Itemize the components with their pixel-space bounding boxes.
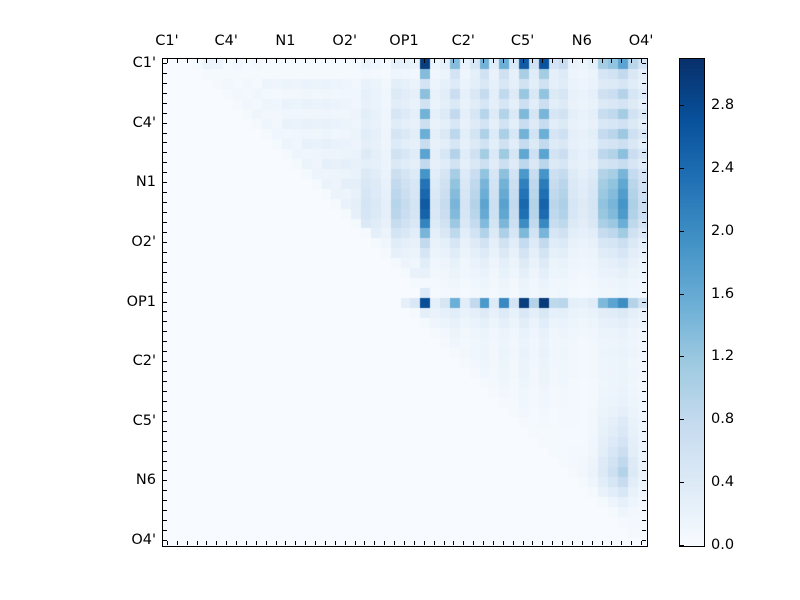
y-tick-left-3: [163, 93, 167, 94]
x-tick-bottom-27: [434, 541, 435, 545]
y-tick-right-30: [642, 361, 646, 362]
x-tick-top-10: [266, 59, 267, 63]
heatmap-axes: [162, 58, 648, 547]
y-tick-left-9: [163, 152, 167, 153]
y-tick-label-C2p: C2': [100, 354, 156, 369]
x-tick-bottom-43: [592, 541, 593, 545]
x-tick-bottom-4: [206, 541, 207, 545]
x-tick-bottom-2: [187, 541, 188, 545]
x-tick-top-35: [513, 59, 514, 63]
x-tick-top-26: [424, 59, 425, 63]
x-tick-bottom-42: [582, 541, 583, 545]
x-tick-bottom-23: [394, 541, 395, 545]
x-tick-top-3: [197, 59, 198, 63]
y-tick-label-O2p: O2': [100, 235, 156, 250]
x-tick-top-21: [374, 59, 375, 63]
x-tick-label-C2p: C2': [452, 34, 475, 49]
x-tick-top-11: [276, 59, 277, 63]
x-tick-label-C1p: C1': [155, 34, 178, 49]
y-tick-right-16: [642, 222, 646, 223]
colorbar-tick-label-2_8: 2.8: [711, 98, 734, 113]
y-tick-right-4: [642, 103, 646, 104]
x-tick-bottom-28: [444, 541, 445, 545]
y-tick-right-11: [642, 172, 646, 173]
colorbar-tick-label-1_6: 1.6: [711, 286, 734, 301]
y-tick-left-43: [163, 490, 167, 491]
y-tick-right-38: [642, 441, 646, 442]
x-tick-bottom-14: [305, 541, 306, 545]
x-tick-bottom-10: [266, 541, 267, 545]
x-tick-bottom-21: [374, 541, 375, 545]
y-tick-label-N1: N1: [100, 175, 156, 190]
y-tick-right-39: [642, 451, 646, 452]
x-tick-top-45: [611, 59, 612, 63]
y-tick-label-N6: N6: [100, 473, 156, 488]
colorbar-tick-0: [680, 545, 684, 546]
x-tick-top-5: [216, 59, 217, 63]
y-tick-left-21: [163, 272, 167, 273]
y-tick-right-13: [642, 192, 646, 193]
y-tick-right-0: [642, 63, 646, 64]
colorbar-tick-6: [680, 168, 684, 169]
y-tick-right-12: [642, 182, 646, 183]
x-tick-bottom-20: [364, 541, 365, 545]
y-tick-right-1: [642, 73, 646, 74]
x-tick-top-38: [542, 59, 543, 63]
y-tick-left-11: [163, 172, 167, 173]
x-tick-top-20: [364, 59, 365, 63]
y-tick-left-33: [163, 391, 167, 392]
y-tick-left-1: [163, 73, 167, 74]
y-tick-right-27: [642, 331, 646, 332]
x-tick-top-19: [355, 59, 356, 63]
y-tick-left-44: [163, 500, 167, 501]
colorbar-tick-label-2_4: 2.4: [711, 161, 734, 176]
x-tick-label-O4p: O4': [629, 34, 654, 49]
x-tick-bottom-17: [335, 541, 336, 545]
x-tick-bottom-48: [641, 541, 642, 545]
x-tick-bottom-16: [325, 541, 326, 545]
y-tick-left-42: [163, 480, 167, 481]
x-tick-top-30: [463, 59, 464, 63]
y-tick-right-3: [642, 93, 646, 94]
x-tick-top-0: [167, 59, 168, 63]
y-tick-left-15: [163, 212, 167, 213]
x-tick-top-14: [305, 59, 306, 63]
y-tick-right-10: [642, 162, 646, 163]
x-tick-bottom-24: [404, 541, 405, 545]
y-tick-right-45: [642, 510, 646, 511]
x-tick-bottom-19: [355, 541, 356, 545]
x-tick-bottom-18: [345, 541, 346, 545]
y-tick-left-7: [163, 133, 167, 134]
y-tick-right-31: [642, 371, 646, 372]
x-tick-top-46: [621, 59, 622, 63]
y-tick-right-43: [642, 490, 646, 491]
y-tick-right-20: [642, 262, 646, 263]
x-tick-bottom-46: [621, 541, 622, 545]
y-tick-left-2: [163, 83, 167, 84]
x-tick-top-1: [177, 59, 178, 63]
x-tick-label-OP1: OP1: [389, 34, 418, 49]
x-tick-top-47: [631, 59, 632, 63]
y-tick-label-OP1: OP1: [100, 294, 156, 309]
x-tick-top-28: [444, 59, 445, 63]
y-tick-right-15: [642, 212, 646, 213]
y-tick-left-37: [163, 431, 167, 432]
y-tick-label-C1p: C1': [100, 56, 156, 71]
x-tick-bottom-7: [236, 541, 237, 545]
x-tick-bottom-45: [611, 541, 612, 545]
x-tick-bottom-25: [414, 541, 415, 545]
y-tick-left-14: [163, 202, 167, 203]
x-tick-top-17: [335, 59, 336, 63]
x-tick-top-34: [503, 59, 504, 63]
x-tick-bottom-38: [542, 541, 543, 545]
y-tick-right-29: [642, 351, 646, 352]
colorbar-tick-1: [680, 482, 684, 483]
x-tick-bottom-5: [216, 541, 217, 545]
y-tick-left-27: [163, 331, 167, 332]
x-tick-top-44: [602, 59, 603, 63]
colorbar-tick-label-0_4: 0.4: [711, 475, 734, 490]
y-tick-right-25: [642, 311, 646, 312]
colorbar-axes: [679, 58, 705, 547]
y-tick-left-31: [163, 371, 167, 372]
x-tick-top-31: [473, 59, 474, 63]
y-tick-left-26: [163, 321, 167, 322]
y-tick-right-35: [642, 411, 646, 412]
x-tick-top-25: [414, 59, 415, 63]
colorbar-gradient: [680, 59, 704, 546]
x-tick-bottom-36: [523, 541, 524, 545]
y-tick-right-47: [642, 530, 646, 531]
y-tick-left-36: [163, 421, 167, 422]
y-tick-right-26: [642, 321, 646, 322]
x-tick-top-2: [187, 59, 188, 63]
x-tick-bottom-8: [246, 541, 247, 545]
colorbar-tick-5: [680, 231, 684, 232]
x-tick-top-29: [453, 59, 454, 63]
x-tick-top-40: [562, 59, 563, 63]
x-tick-bottom-32: [483, 541, 484, 545]
x-tick-bottom-40: [562, 541, 563, 545]
x-tick-bottom-44: [602, 541, 603, 545]
x-tick-bottom-22: [384, 541, 385, 545]
colorbar-tick-7: [680, 105, 684, 106]
x-tick-label-C4p: C4': [215, 34, 238, 49]
y-tick-left-41: [163, 470, 167, 471]
y-tick-right-46: [642, 520, 646, 521]
y-tick-left-17: [163, 232, 167, 233]
x-tick-bottom-41: [572, 541, 573, 545]
y-tick-left-32: [163, 381, 167, 382]
y-tick-left-40: [163, 461, 167, 462]
y-tick-label-C4p: C4': [100, 115, 156, 130]
x-tick-top-41: [572, 59, 573, 63]
y-tick-right-33: [642, 391, 646, 392]
y-tick-right-7: [642, 133, 646, 134]
x-tick-top-37: [532, 59, 533, 63]
x-tick-bottom-6: [226, 541, 227, 545]
x-tick-top-24: [404, 59, 405, 63]
y-tick-left-18: [163, 242, 167, 243]
y-tick-left-8: [163, 142, 167, 143]
figure-canvas: C1'C4'N1O2'OP1C2'C5'N6O4' C1'C4'N1O2'OP1…: [0, 0, 800, 600]
heatmap-image: [163, 59, 647, 546]
x-tick-top-22: [384, 59, 385, 63]
x-tick-bottom-47: [631, 541, 632, 545]
colorbar-tick-2: [680, 419, 684, 420]
y-tick-left-46: [163, 520, 167, 521]
x-tick-bottom-13: [295, 541, 296, 545]
y-tick-left-6: [163, 123, 167, 124]
y-tick-left-29: [163, 351, 167, 352]
y-tick-right-41: [642, 470, 646, 471]
y-tick-left-39: [163, 451, 167, 452]
y-tick-right-5: [642, 113, 646, 114]
y-tick-right-24: [642, 302, 646, 303]
y-tick-left-19: [163, 252, 167, 253]
y-tick-label-O4p: O4': [100, 533, 156, 548]
y-tick-left-10: [163, 162, 167, 163]
x-tick-bottom-29: [453, 541, 454, 545]
x-tick-bottom-11: [276, 541, 277, 545]
y-tick-right-37: [642, 431, 646, 432]
y-tick-left-20: [163, 262, 167, 263]
y-tick-right-44: [642, 500, 646, 501]
y-tick-right-18: [642, 242, 646, 243]
y-tick-left-13: [163, 192, 167, 193]
y-tick-left-16: [163, 222, 167, 223]
x-tick-top-42: [582, 59, 583, 63]
colorbar-tick-label-2_0: 2.0: [711, 224, 734, 239]
y-tick-right-42: [642, 480, 646, 481]
y-tick-left-0: [163, 63, 167, 64]
y-tick-left-4: [163, 103, 167, 104]
x-tick-top-4: [206, 59, 207, 63]
y-tick-left-48: [163, 540, 167, 541]
y-tick-right-23: [642, 292, 646, 293]
x-tick-top-8: [246, 59, 247, 63]
x-tick-label-O2p: O2': [332, 34, 357, 49]
y-tick-left-23: [163, 292, 167, 293]
x-tick-bottom-26: [424, 541, 425, 545]
colorbar-tick-label-1_2: 1.2: [711, 349, 734, 364]
x-tick-bottom-31: [473, 541, 474, 545]
x-tick-label-N1: N1: [275, 34, 295, 49]
y-tick-right-17: [642, 232, 646, 233]
colorbar-tick-label-0_8: 0.8: [711, 412, 734, 427]
x-tick-bottom-1: [177, 541, 178, 545]
x-tick-bottom-0: [167, 541, 168, 545]
x-tick-bottom-3: [197, 541, 198, 545]
y-tick-right-9: [642, 152, 646, 153]
x-tick-top-13: [295, 59, 296, 63]
y-tick-left-22: [163, 282, 167, 283]
x-tick-bottom-39: [552, 541, 553, 545]
x-tick-top-23: [394, 59, 395, 63]
y-tick-right-6: [642, 123, 646, 124]
colorbar-tick-label-0_0: 0.0: [711, 538, 734, 553]
x-tick-top-18: [345, 59, 346, 63]
x-tick-bottom-33: [493, 541, 494, 545]
y-tick-right-21: [642, 272, 646, 273]
y-tick-left-28: [163, 341, 167, 342]
colorbar-tick-3: [680, 356, 684, 357]
y-tick-right-19: [642, 252, 646, 253]
x-tick-label-N6: N6: [572, 34, 592, 49]
y-tick-left-45: [163, 510, 167, 511]
y-tick-left-35: [163, 411, 167, 412]
x-tick-top-9: [256, 59, 257, 63]
x-tick-bottom-15: [315, 541, 316, 545]
y-tick-right-28: [642, 341, 646, 342]
x-tick-top-39: [552, 59, 553, 63]
x-tick-label-C5p: C5': [511, 34, 534, 49]
y-tick-left-5: [163, 113, 167, 114]
y-tick-right-34: [642, 401, 646, 402]
y-tick-right-22: [642, 282, 646, 283]
colorbar-tick-4: [680, 294, 684, 295]
y-tick-right-2: [642, 83, 646, 84]
y-tick-left-25: [163, 311, 167, 312]
y-tick-left-30: [163, 361, 167, 362]
x-tick-bottom-12: [285, 541, 286, 545]
x-tick-bottom-30: [463, 541, 464, 545]
y-tick-left-12: [163, 182, 167, 183]
y-tick-right-40: [642, 461, 646, 462]
x-tick-top-43: [592, 59, 593, 63]
y-tick-right-32: [642, 381, 646, 382]
y-tick-left-38: [163, 441, 167, 442]
x-tick-bottom-37: [532, 541, 533, 545]
x-tick-bottom-35: [513, 541, 514, 545]
x-tick-top-15: [315, 59, 316, 63]
x-tick-bottom-9: [256, 541, 257, 545]
x-tick-top-7: [236, 59, 237, 63]
x-tick-bottom-34: [503, 541, 504, 545]
y-tick-left-34: [163, 401, 167, 402]
y-tick-right-14: [642, 202, 646, 203]
x-tick-top-6: [226, 59, 227, 63]
x-tick-top-36: [523, 59, 524, 63]
y-tick-right-8: [642, 142, 646, 143]
x-tick-top-32: [483, 59, 484, 63]
y-tick-left-24: [163, 302, 167, 303]
x-tick-top-16: [325, 59, 326, 63]
y-tick-label-C5p: C5': [100, 414, 156, 429]
x-tick-top-27: [434, 59, 435, 63]
y-tick-right-36: [642, 421, 646, 422]
x-tick-top-12: [285, 59, 286, 63]
y-tick-right-48: [642, 540, 646, 541]
x-tick-top-33: [493, 59, 494, 63]
y-tick-left-47: [163, 530, 167, 531]
